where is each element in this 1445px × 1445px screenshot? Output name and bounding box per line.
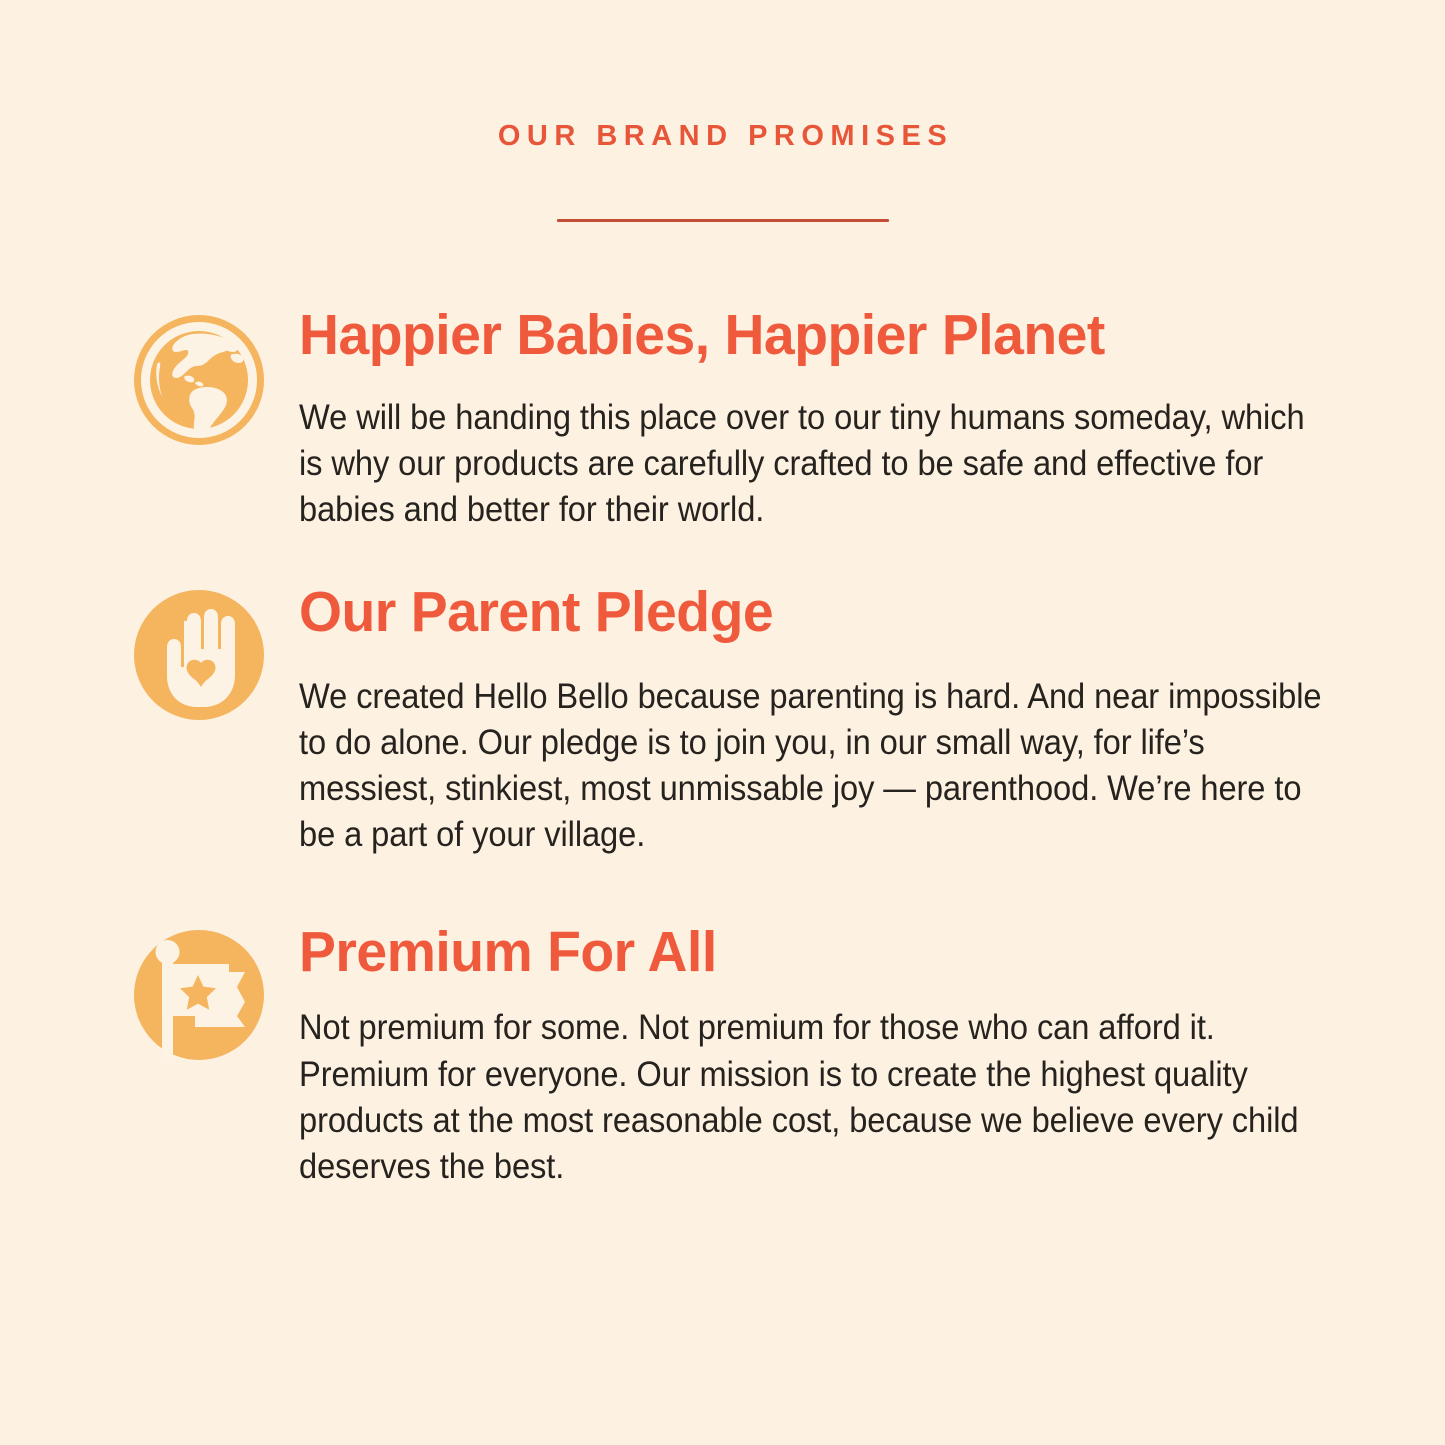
promise-icon-slot <box>133 919 267 1071</box>
promise-item: Our Parent Pledge We created Hello Bello… <box>133 579 1333 858</box>
promise-title: Our Parent Pledge <box>299 583 1302 641</box>
header-divider <box>557 219 889 222</box>
globe-icon <box>133 304 267 456</box>
hand-heart-icon <box>133 579 267 731</box>
promise-description: We created Hello Bello because parenting… <box>299 673 1332 858</box>
page-header: OUR BRAND PROMISES <box>0 122 1445 222</box>
promise-icon-slot <box>133 304 267 456</box>
promise-item: Premium For All Not premium for some. No… <box>133 919 1333 1189</box>
promise-content: Happier Babies, Happier Planet We will b… <box>299 304 1333 533</box>
promises-list: Happier Babies, Happier Planet We will b… <box>133 304 1333 1189</box>
promise-title: Premium For All <box>299 923 1302 981</box>
promise-icon-slot <box>133 579 267 731</box>
promise-item: Happier Babies, Happier Planet We will b… <box>133 304 1333 533</box>
divider-container <box>0 219 1445 222</box>
page-title: OUR BRAND PROMISES <box>0 122 1445 151</box>
promise-title: Happier Babies, Happier Planet <box>299 306 1302 364</box>
promise-content: Our Parent Pledge We created Hello Bello… <box>299 579 1333 858</box>
promise-description: We will be handing this place over to ou… <box>299 394 1332 532</box>
promise-content: Premium For All Not premium for some. No… <box>299 919 1333 1189</box>
flag-star-icon <box>133 919 267 1071</box>
promise-description: Not premium for some. Not premium for th… <box>299 1004 1332 1189</box>
brand-promises-page: OUR BRAND PROMISES <box>0 0 1445 1445</box>
